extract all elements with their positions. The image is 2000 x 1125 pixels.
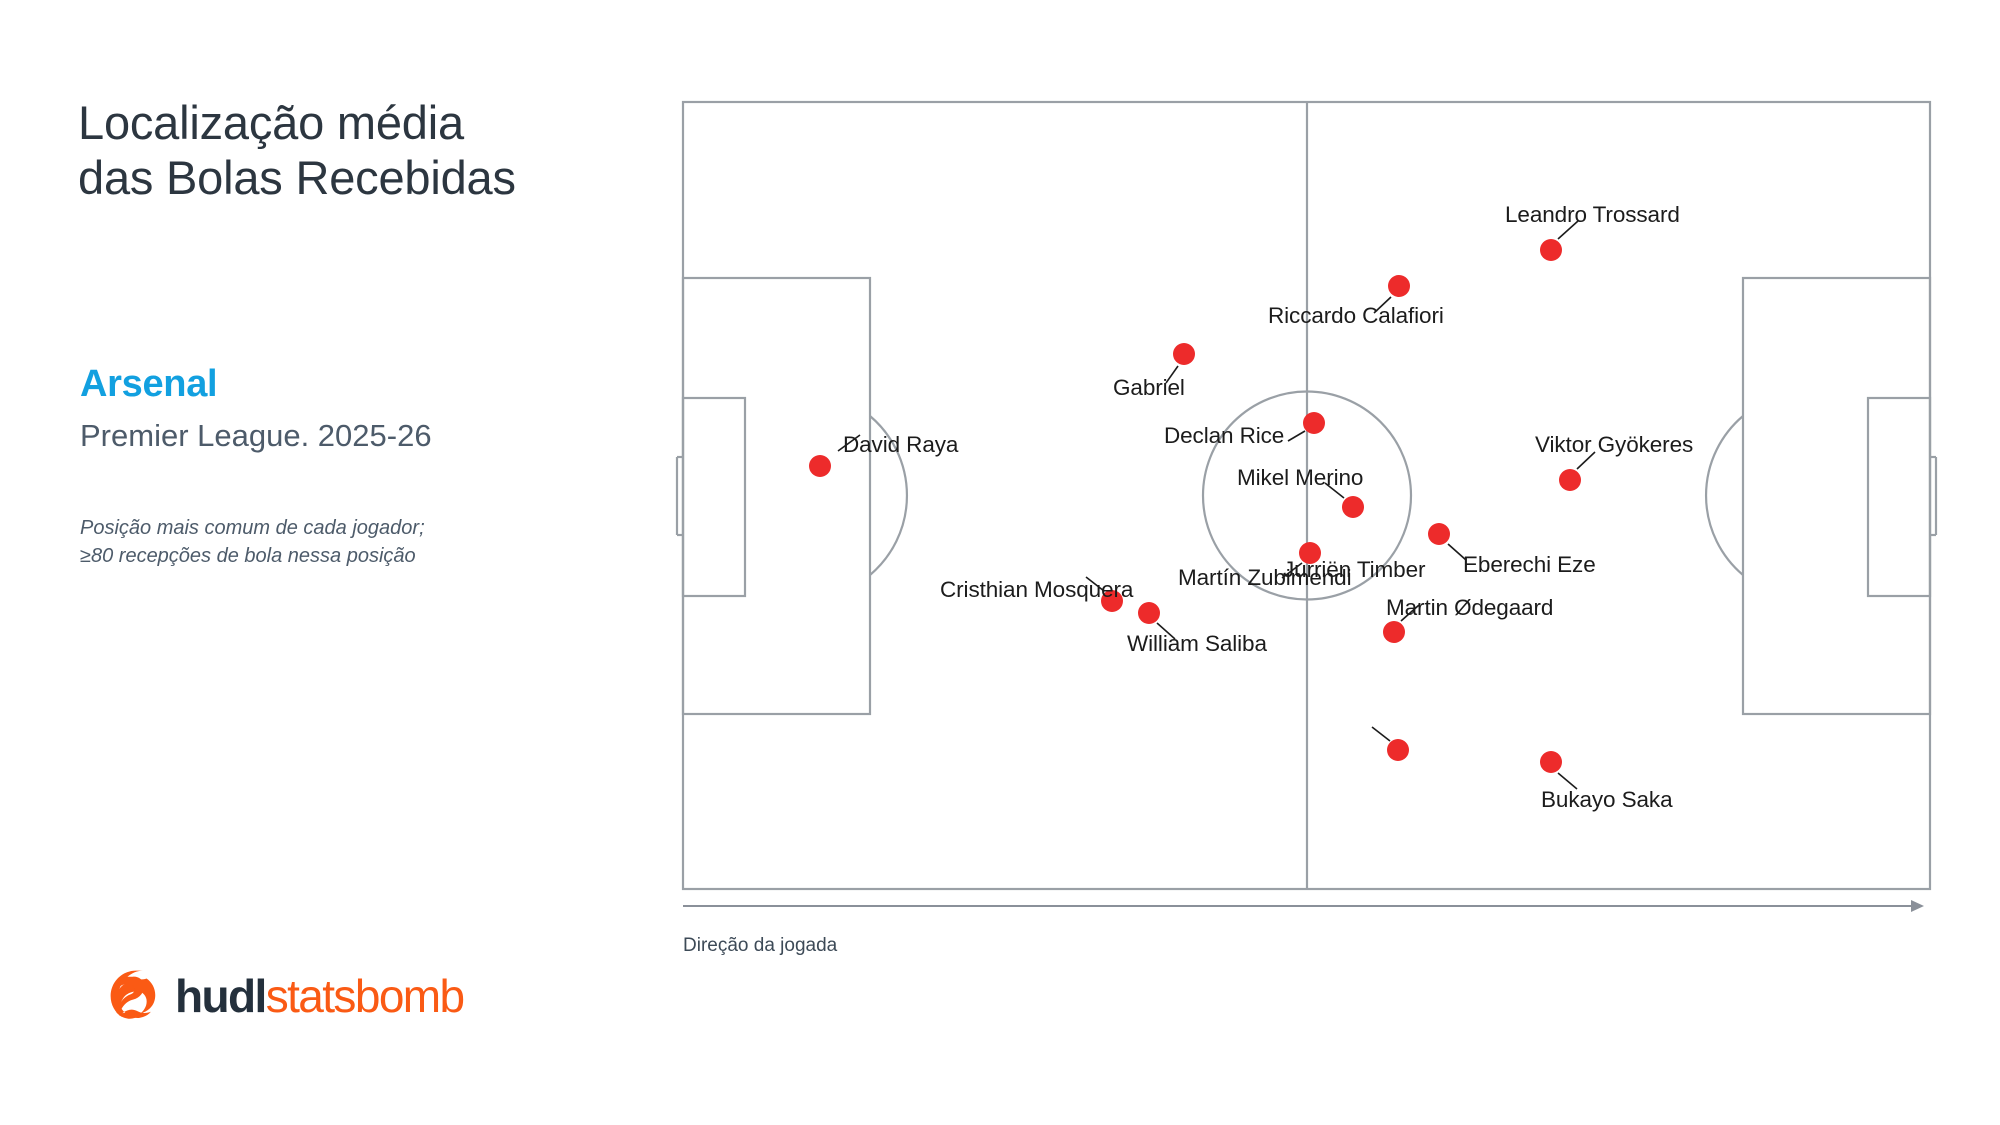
player-dot[interactable] xyxy=(1540,239,1562,261)
direction-of-play-label: Direção da jogada xyxy=(683,935,837,957)
player-label: Martin Ødegaard xyxy=(1386,595,1553,621)
player-label: Viktor Gyökeres xyxy=(1535,432,1693,458)
player-label: Riccardo Calafiori xyxy=(1268,303,1444,329)
player-dot[interactable] xyxy=(1388,275,1410,297)
player-dot[interactable] xyxy=(809,455,831,477)
player-label: Eberechi Eze xyxy=(1463,552,1596,578)
player-label: Mikel Merino xyxy=(1237,465,1363,491)
player-dot[interactable] xyxy=(1173,343,1195,365)
player-leader-line xyxy=(1372,727,1390,741)
player-label: Leandro Trossard xyxy=(1505,202,1680,228)
player-label: Declan Rice xyxy=(1164,423,1284,449)
player-dot[interactable] xyxy=(1138,602,1160,624)
player-leader-line xyxy=(1288,431,1305,441)
player-label: Cristhian Mosquera xyxy=(940,577,1133,603)
direction-of-play-arrow xyxy=(683,900,1924,912)
player-label: Gabriel xyxy=(1113,375,1185,401)
player-dot[interactable] xyxy=(1559,469,1581,491)
pitch-chart: David RayaGabrielRiccardo CalafioriLeand… xyxy=(0,0,2000,1125)
pitch-markings xyxy=(677,102,1936,889)
player-label: Jurriën Timber xyxy=(1283,557,1425,583)
player-dot[interactable] xyxy=(1540,751,1562,773)
player-marks-layer xyxy=(809,221,1595,789)
player-dot[interactable] xyxy=(1303,412,1325,434)
player-dot[interactable] xyxy=(1342,496,1364,518)
visualization-root: Localização média das Bolas Recebidas Ar… xyxy=(0,0,2000,1125)
player-label: Bukayo Saka xyxy=(1541,787,1672,813)
player-label: David Raya xyxy=(843,432,958,458)
player-dot[interactable] xyxy=(1387,739,1409,761)
player-dot[interactable] xyxy=(1428,523,1450,545)
player-dot[interactable] xyxy=(1383,621,1405,643)
player-label: William Saliba xyxy=(1127,631,1267,657)
